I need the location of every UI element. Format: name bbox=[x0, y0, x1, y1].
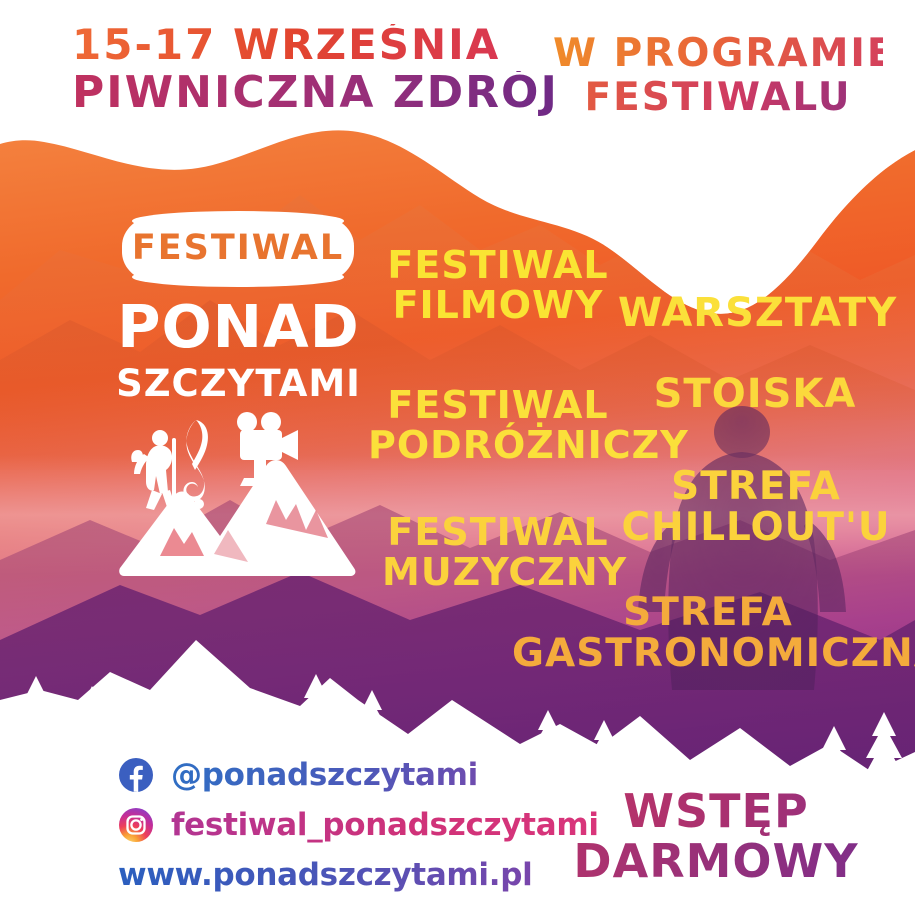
instagram-handle[interactable]: festiwal_ponadszczytami bbox=[171, 807, 599, 843]
website-row[interactable]: www.ponadszczytami.pl bbox=[118, 852, 599, 898]
program-item-line1: STREFA bbox=[608, 466, 904, 507]
program-item-line2: PODRÓŻNICZY bbox=[368, 425, 628, 465]
program-item-warsztaty: WARSZTATY bbox=[618, 292, 893, 334]
facebook-icon[interactable] bbox=[118, 757, 154, 793]
program-item-line2: FILMOWY bbox=[382, 285, 614, 325]
facebook-row[interactable]: @ponadszczytami bbox=[118, 752, 599, 798]
program-heading-line1: W PROGRAMIE bbox=[553, 34, 883, 74]
program-item-line2: GASTRONOMICZNA bbox=[512, 633, 904, 674]
program-item-line1: FESTIWAL bbox=[368, 385, 628, 425]
free-entry-line2: DARMOWY bbox=[536, 838, 896, 886]
instagram-row[interactable]: festiwal_ponadszczytami bbox=[118, 802, 599, 848]
social-links: @ponadszczytami festiwal_pon bbox=[118, 752, 599, 902]
program-item-line1: FESTIWAL bbox=[382, 512, 614, 552]
program-heading: W PROGRAMIE FESTIWALU bbox=[553, 34, 883, 118]
program-item-festiwal-muzyczny: FESTIWAL MUZYCZNY bbox=[382, 512, 614, 593]
program-item-line1: STREFA bbox=[512, 592, 904, 633]
date-location-heading: 15-17 WRZEŚNIA PIWNICZNA ZDRÓJ bbox=[72, 24, 559, 116]
festival-logo: FESTIWAL PONAD SZCZYTAMI bbox=[116, 216, 361, 586]
program-item-strefa-chillout: STREFA CHILLOUT'U bbox=[608, 466, 904, 549]
program-item-strefa-gastronomiczna: STREFA GASTRONOMICZNA bbox=[512, 592, 904, 675]
treble-clef-icon bbox=[183, 420, 207, 509]
date-text: 15-17 WRZEŚNIA bbox=[72, 24, 559, 67]
location-text: PIWNICZNA ZDRÓJ bbox=[72, 71, 559, 116]
program-item-line1: FESTIWAL bbox=[382, 245, 614, 285]
website-url[interactable]: www.ponadszczytami.pl bbox=[118, 857, 532, 893]
program-item-line1: WARSZTATY bbox=[618, 292, 893, 334]
program-item-stoiska: STOISKA bbox=[630, 373, 880, 415]
program-item-line2: MUZYCZNY bbox=[382, 552, 614, 592]
free-entry-line1: WSTĘP bbox=[536, 788, 896, 836]
program-item-line1: STOISKA bbox=[630, 373, 880, 415]
logo-festiwal-label: FESTIWAL bbox=[116, 228, 360, 268]
program-item-festiwal-filmowy: FESTIWAL FILMOWY bbox=[382, 245, 614, 326]
logo-ponad-label: PONAD bbox=[116, 292, 361, 361]
program-heading-line2: FESTIWALU bbox=[553, 78, 883, 118]
program-item-festiwal-podrozniczy: FESTIWAL PODRÓŻNICZY bbox=[368, 385, 628, 466]
festival-poster: 15-17 WRZEŚNIA PIWNICZNA ZDRÓJ W PROGRAM… bbox=[0, 0, 915, 914]
instagram-icon[interactable] bbox=[118, 807, 154, 843]
program-item-line2: CHILLOUT'U bbox=[608, 507, 904, 548]
hiker-icon bbox=[131, 430, 176, 512]
logo-szczytami-label: SZCZYTAMI bbox=[116, 362, 361, 405]
logo-mountain-art bbox=[116, 404, 361, 584]
free-entry-text: WSTĘP DARMOWY bbox=[536, 788, 896, 886]
facebook-handle[interactable]: @ponadszczytami bbox=[171, 757, 478, 793]
